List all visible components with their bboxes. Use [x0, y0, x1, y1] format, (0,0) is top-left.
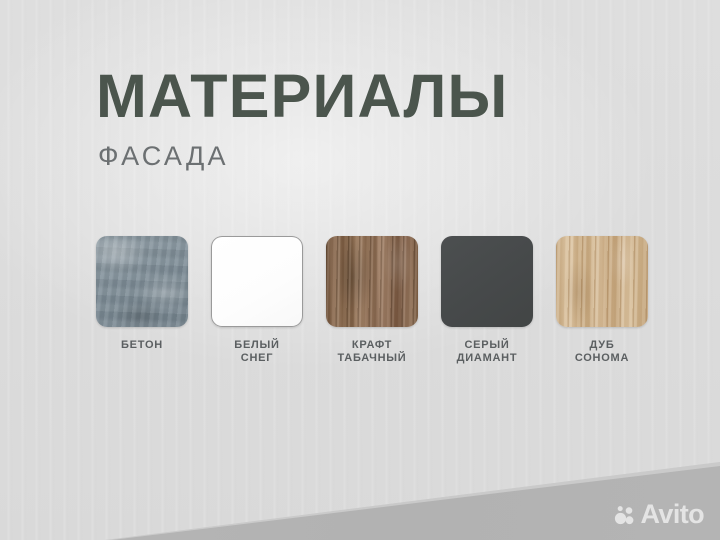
swatch-dub-sonoma[interactable] [556, 236, 648, 327]
avito-watermark: Avito [614, 501, 705, 528]
swatch-bely-sneg[interactable] [211, 236, 303, 327]
page-subtitle: ФАСАДА [98, 143, 508, 170]
swatch-label: ДУБ СОНОМА [575, 339, 629, 365]
swatch-label: КРАФТ ТАБАЧНЫЙ [338, 339, 407, 365]
poster-canvas: МАТЕРИАЛЫ ФАСАДА БЕТОН БЕЛЫЙ СНЕГ КРАФТ … [0, 0, 720, 540]
avito-dots-logo-icon [614, 505, 636, 525]
swatch-item[interactable]: КРАФТ ТАБАЧНЫЙ [326, 236, 418, 365]
swatch-label: БЕТОН [121, 339, 163, 352]
swatch-label: СЕРЫЙ ДИАМАНТ [457, 339, 518, 365]
swatch-beton[interactable] [96, 236, 188, 327]
heading-block: МАТЕРИАЛЫ ФАСАДА [96, 66, 508, 170]
swatch-kraft-tabachny[interactable] [326, 236, 418, 327]
swatch-label: БЕЛЫЙ СНЕГ [234, 339, 279, 365]
material-swatch-row: БЕТОН БЕЛЫЙ СНЕГ КРАФТ ТАБАЧНЫЙ СЕРЫЙ ДИ… [96, 236, 648, 365]
swatch-sery-diamant[interactable] [441, 236, 533, 327]
swatch-item[interactable]: СЕРЫЙ ДИАМАНТ [441, 236, 533, 365]
page-title: МАТЕРИАЛЫ [96, 66, 508, 127]
swatch-item[interactable]: БЕЛЫЙ СНЕГ [211, 236, 303, 365]
swatch-item[interactable]: БЕТОН [96, 236, 188, 365]
swatch-item[interactable]: ДУБ СОНОМА [556, 236, 648, 365]
avito-watermark-text: Avito [641, 501, 705, 528]
